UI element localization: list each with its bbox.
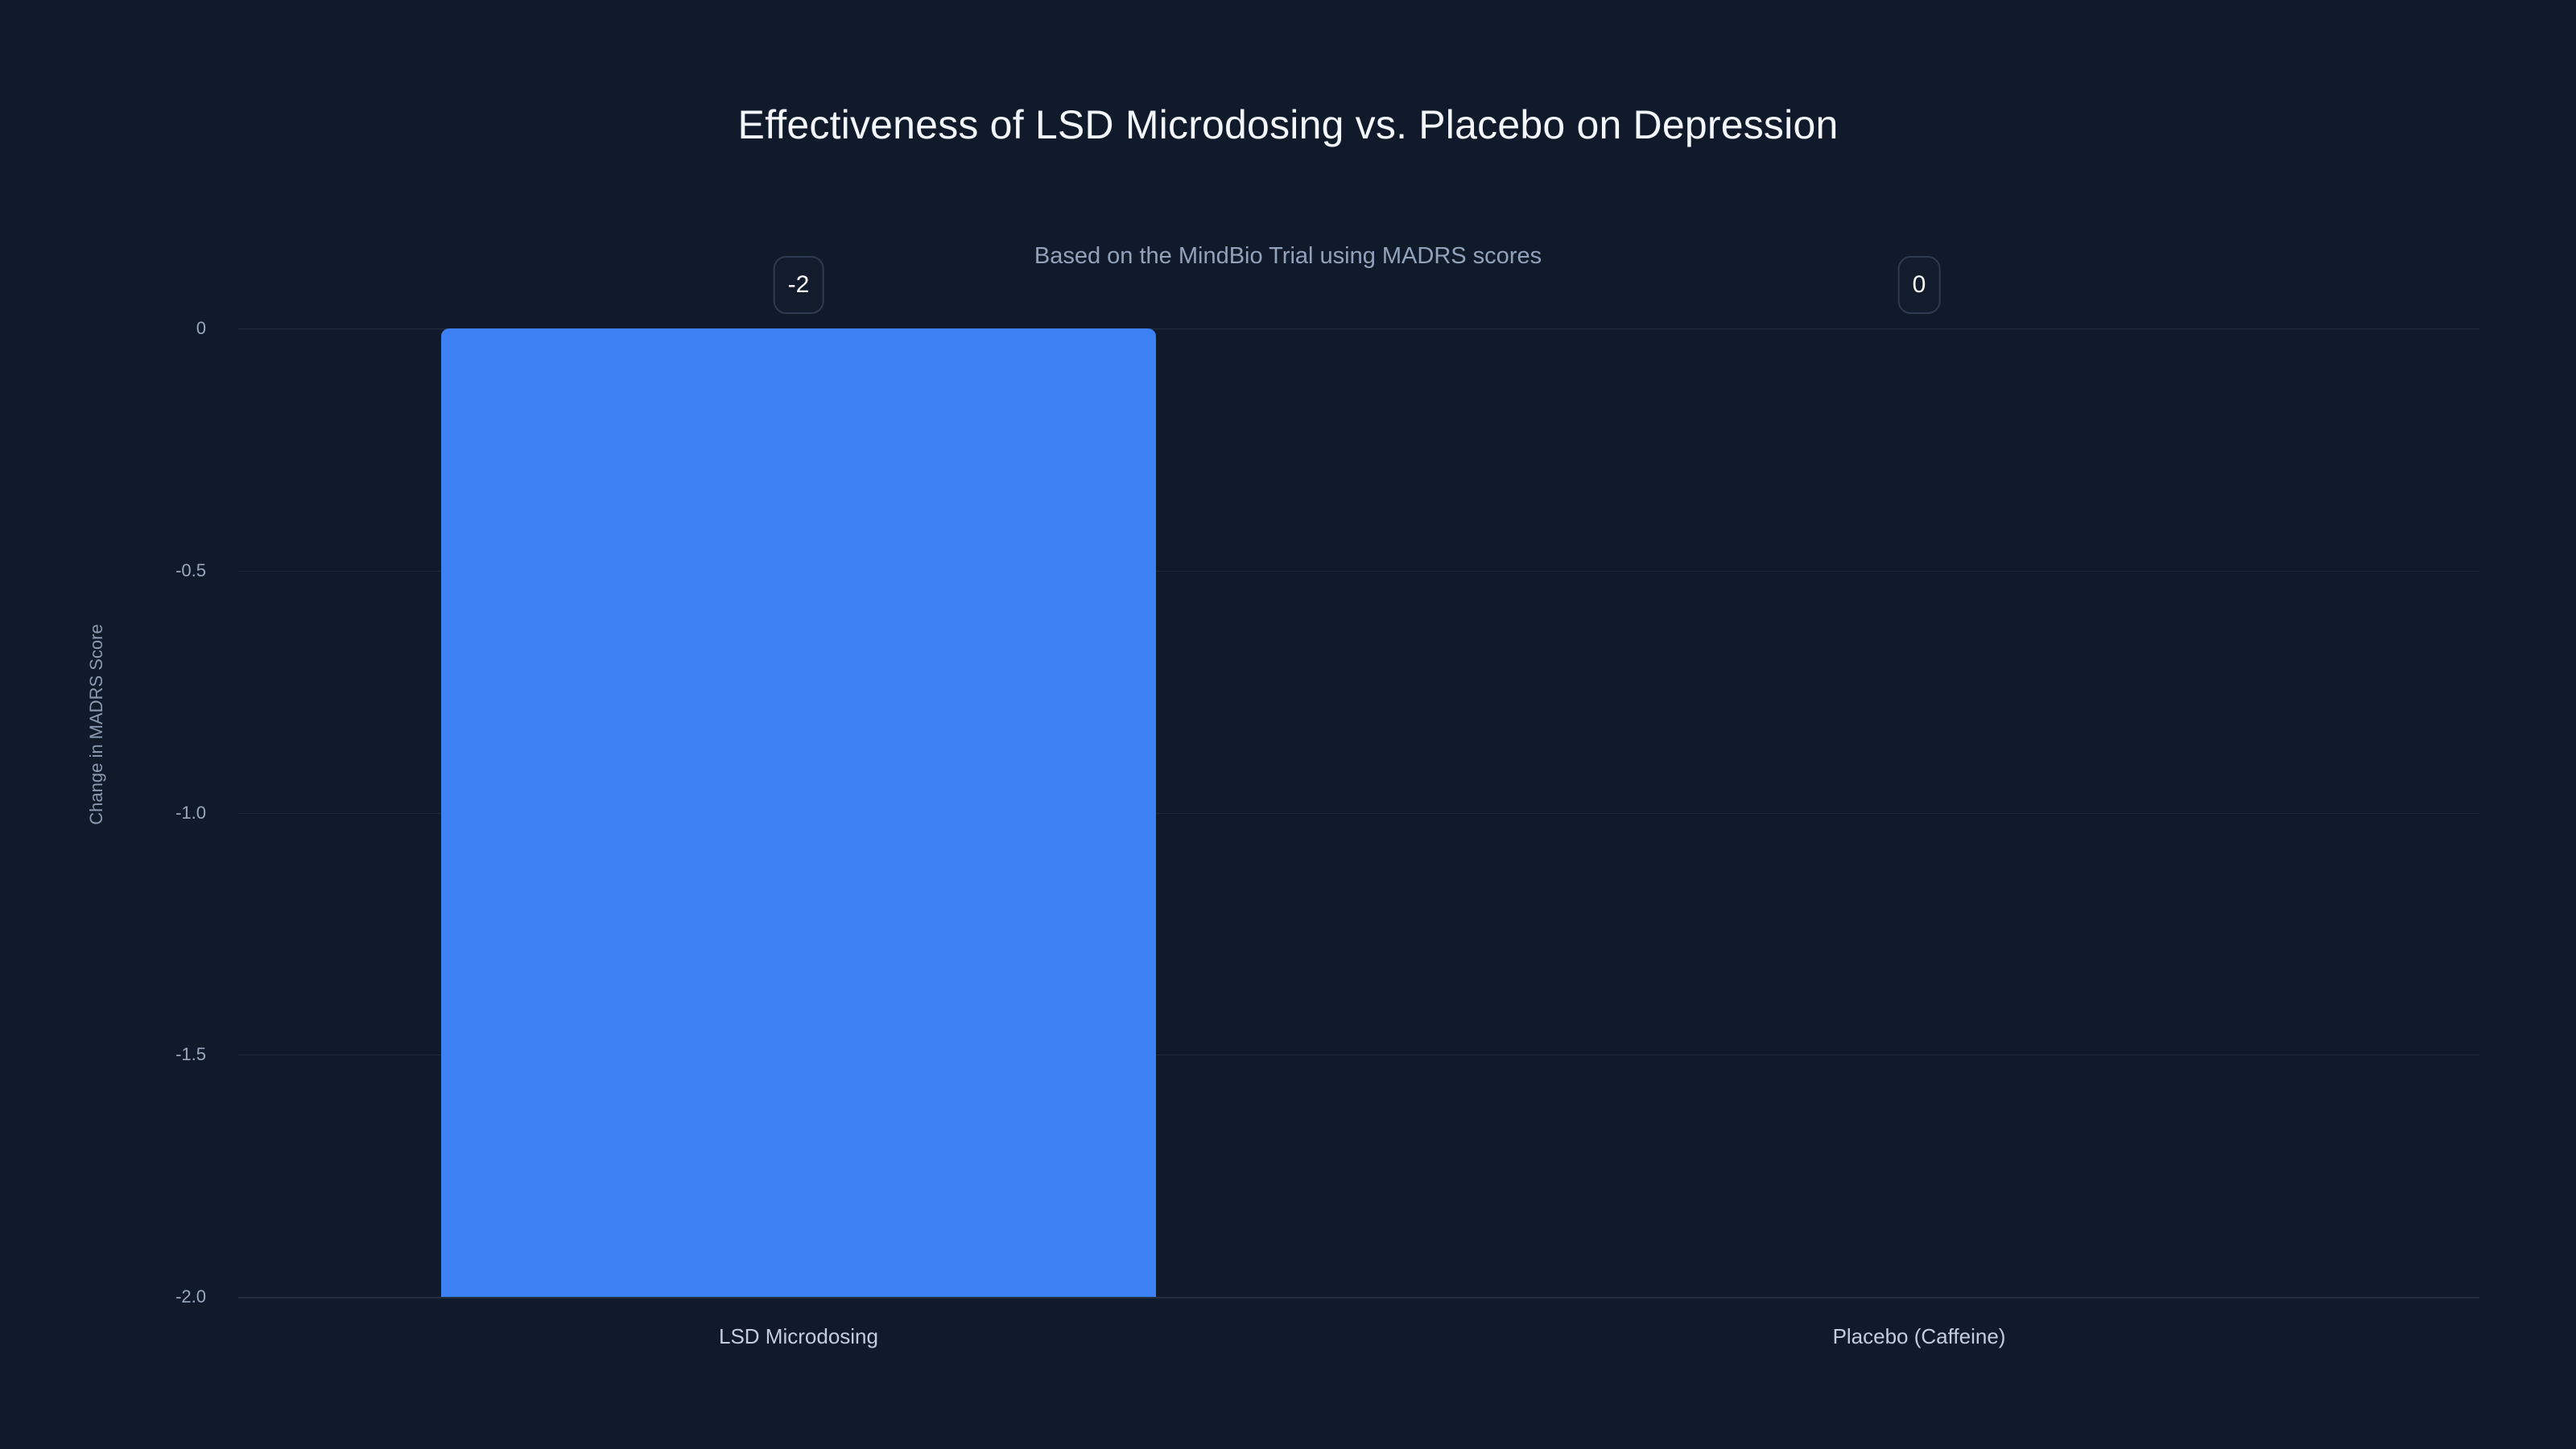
value-badge: 0 [1898, 256, 1941, 314]
value-badge: -2 [774, 256, 824, 314]
y-tick-label: 0 [0, 318, 206, 339]
y-tick-label: -1.5 [0, 1044, 206, 1065]
x-tick-label: LSD Microdosing [719, 1324, 878, 1349]
plot-area [238, 328, 2479, 1297]
x-axis-line [238, 1297, 2479, 1298]
chart-title: Effectiveness of LSD Microdosing vs. Pla… [0, 103, 2576, 147]
bar[interactable] [441, 328, 1156, 1297]
chart-subtitle: Based on the MindBio Trial using MADRS s… [0, 244, 2576, 270]
y-tick-label: -2.0 [0, 1286, 206, 1307]
y-tick-label: -0.5 [0, 560, 206, 581]
y-axis-title: Change in MADRS Score [86, 624, 107, 824]
chart-container: Effectiveness of LSD Microdosing vs. Pla… [0, 0, 2576, 1449]
x-tick-label: Placebo (Caffeine) [1833, 1324, 2006, 1349]
y-tick-label: -1.0 [0, 803, 206, 824]
